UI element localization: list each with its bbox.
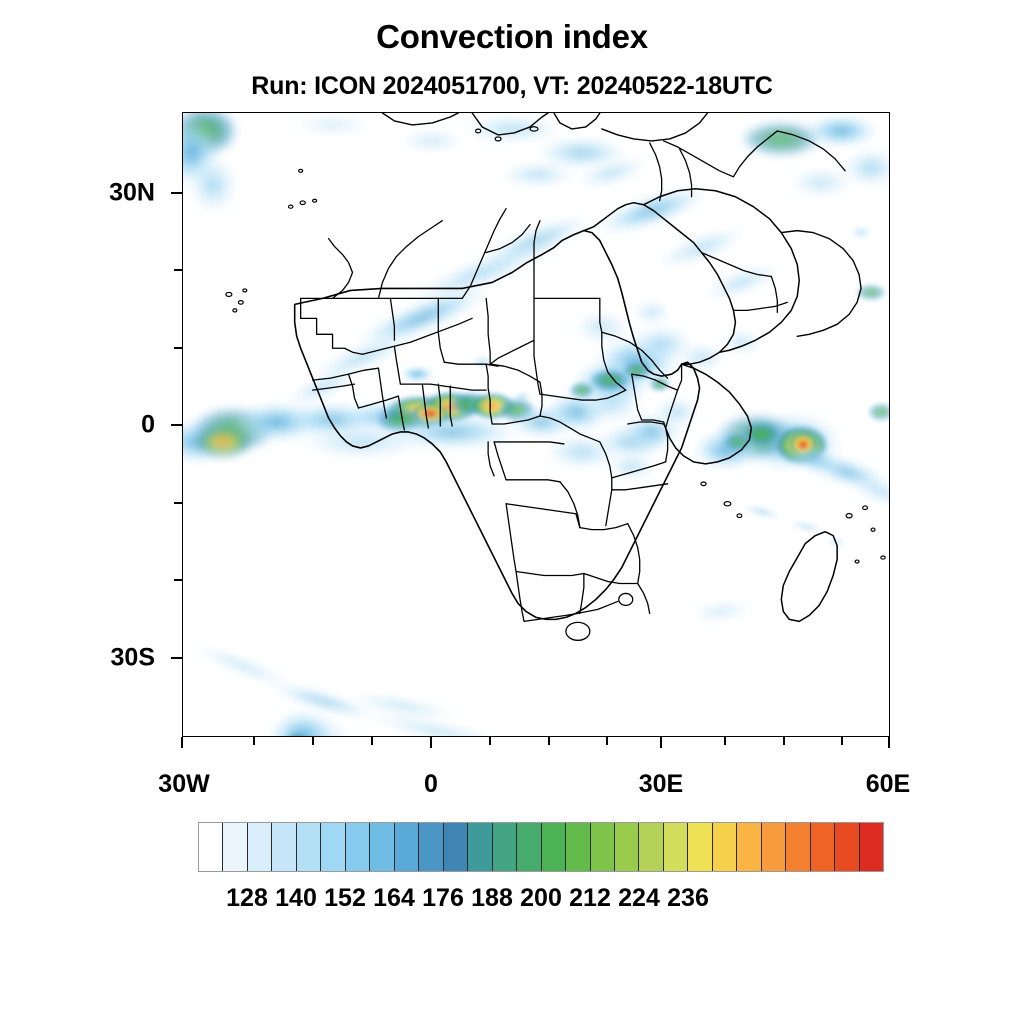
colorbar-segment bbox=[297, 823, 321, 871]
colorbar-segment bbox=[615, 823, 639, 871]
ytick-0 bbox=[171, 424, 182, 426]
colorbar-segment bbox=[860, 823, 883, 871]
colorbar-segment bbox=[835, 823, 859, 871]
map-plot-area bbox=[182, 112, 890, 737]
colorbar-tick-label: 212 bbox=[569, 884, 611, 913]
colorbar-tick-label: 152 bbox=[324, 884, 366, 913]
colorbar-tick-label: 236 bbox=[667, 884, 709, 913]
colorbar bbox=[198, 822, 884, 872]
colorbar-tick-label: 188 bbox=[471, 884, 513, 913]
chart-subtitle: Run: ICON 2024051700, VT: 20240522-18UTC bbox=[0, 72, 1024, 101]
colorbar-tick-label: 140 bbox=[275, 884, 317, 913]
colorbar-segment bbox=[688, 823, 712, 871]
colorbar-segment bbox=[566, 823, 590, 871]
xtick-0 bbox=[430, 737, 432, 748]
colorbar-segment bbox=[468, 823, 492, 871]
colorbar-segment bbox=[493, 823, 517, 871]
colorbar-tick-label: 128 bbox=[226, 884, 268, 913]
colorbar-tick-label: 224 bbox=[618, 884, 660, 913]
page-title: Convection index bbox=[0, 18, 1024, 56]
ytick-minor-1 bbox=[174, 269, 182, 271]
colorbar-segment bbox=[542, 823, 566, 871]
colorbar-segment bbox=[664, 823, 688, 871]
colorbar-segment bbox=[199, 823, 223, 871]
colorbar-tick-label: 200 bbox=[520, 884, 562, 913]
ytick-minor-4 bbox=[174, 579, 182, 581]
colorbar-tick-label: 176 bbox=[422, 884, 464, 913]
colorbar-segment bbox=[272, 823, 296, 871]
xlabel-30w: 30W bbox=[124, 770, 244, 799]
colorbar-segment bbox=[762, 823, 786, 871]
xtick-minor-4 bbox=[489, 737, 491, 745]
colorbar-segment bbox=[591, 823, 615, 871]
colorbar-segment bbox=[321, 823, 345, 871]
colorbar-segment bbox=[811, 823, 835, 871]
colorbar-segment bbox=[713, 823, 737, 871]
ytick-minor-3 bbox=[174, 502, 182, 504]
xtick-minor-3 bbox=[371, 737, 373, 745]
colorbar-tick-label: 164 bbox=[373, 884, 415, 913]
colorbar-segment bbox=[395, 823, 419, 871]
colorbar-segment bbox=[419, 823, 443, 871]
ytick-30s bbox=[171, 657, 182, 659]
colorbar-segment bbox=[639, 823, 663, 871]
xtick-minor-7 bbox=[724, 737, 726, 745]
colorbar-segment bbox=[248, 823, 272, 871]
colorbar-segments bbox=[198, 822, 884, 872]
map-canvas bbox=[183, 113, 889, 736]
colorbar-segment bbox=[223, 823, 247, 871]
xtick-minor-9 bbox=[841, 737, 843, 745]
colorbar-segment bbox=[370, 823, 394, 871]
colorbar-segment bbox=[346, 823, 370, 871]
xtick-30w bbox=[181, 737, 183, 748]
xtick-30e bbox=[660, 737, 662, 748]
colorbar-segment bbox=[517, 823, 541, 871]
ylabel-30s: 30S bbox=[40, 644, 155, 673]
ytick-minor-2 bbox=[174, 347, 182, 349]
ylabel-30n: 30N bbox=[40, 179, 155, 208]
ylabel-0: 0 bbox=[40, 411, 155, 440]
xlabel-0: 0 bbox=[371, 770, 491, 799]
ytick-30n bbox=[171, 192, 182, 194]
xtick-60e bbox=[888, 737, 890, 748]
xtick-minor-6 bbox=[606, 737, 608, 745]
xtick-minor-1 bbox=[253, 737, 255, 745]
xtick-minor-8 bbox=[783, 737, 785, 745]
colorbar-segment bbox=[444, 823, 468, 871]
xlabel-30e: 30E bbox=[601, 770, 721, 799]
colorbar-segment bbox=[786, 823, 810, 871]
xlabel-60e: 60E bbox=[828, 770, 948, 799]
xtick-minor-2 bbox=[312, 737, 314, 745]
colorbar-segment bbox=[737, 823, 761, 871]
xtick-minor-5 bbox=[548, 737, 550, 745]
